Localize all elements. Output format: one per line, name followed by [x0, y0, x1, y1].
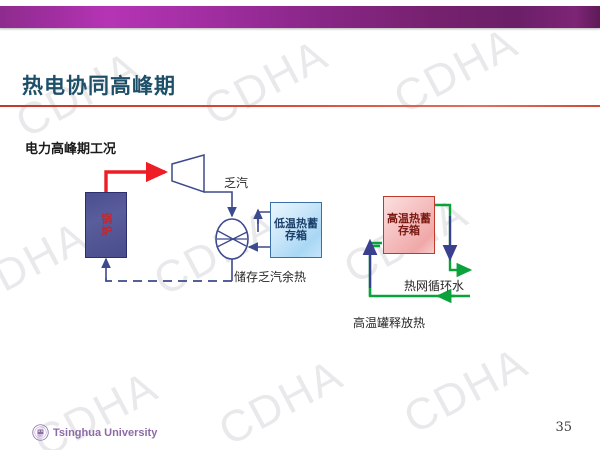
exhaust-steam-label: 乏汽	[224, 174, 248, 191]
high-temp-storage-tank-box: 高温热蓄存箱	[383, 196, 435, 254]
boiler-box: 锅炉	[85, 192, 127, 258]
high-temp-tank-label: 高温热蓄存箱	[384, 213, 434, 238]
page-title: 热电协同高峰期	[22, 70, 176, 100]
tsinghua-seal-icon	[32, 424, 49, 441]
condenser-icon	[216, 219, 248, 259]
condenser-tank-loop	[249, 210, 270, 247]
footer-branding: Tsinghua University	[32, 424, 157, 441]
footer-organization-name: Tsinghua University	[53, 427, 157, 439]
store-waste-heat-label: 储存乏汽余热	[234, 268, 306, 285]
exhaust-steam-line	[204, 192, 232, 216]
slide-canvas: CDHA CDHA CDHA CDHA CDHA CDHA CDHA CDHA …	[0, 0, 600, 450]
section-subtitle: 电力高峰期工况	[25, 138, 116, 157]
boiler-label: 锅炉	[100, 213, 112, 237]
high-temp-release-label: 高温罐释放热	[353, 314, 425, 331]
steam-turbine-icon	[172, 155, 204, 192]
main-steam-line	[106, 172, 165, 192]
page-number: 35	[555, 420, 572, 435]
low-temp-tank-label: 低温热蓄存箱	[271, 218, 321, 243]
low-temp-storage-tank-box: 低温热蓄存箱	[270, 202, 322, 258]
heat-network-water-label: 热网循环水	[404, 277, 464, 294]
condensate-return-line	[106, 259, 232, 281]
